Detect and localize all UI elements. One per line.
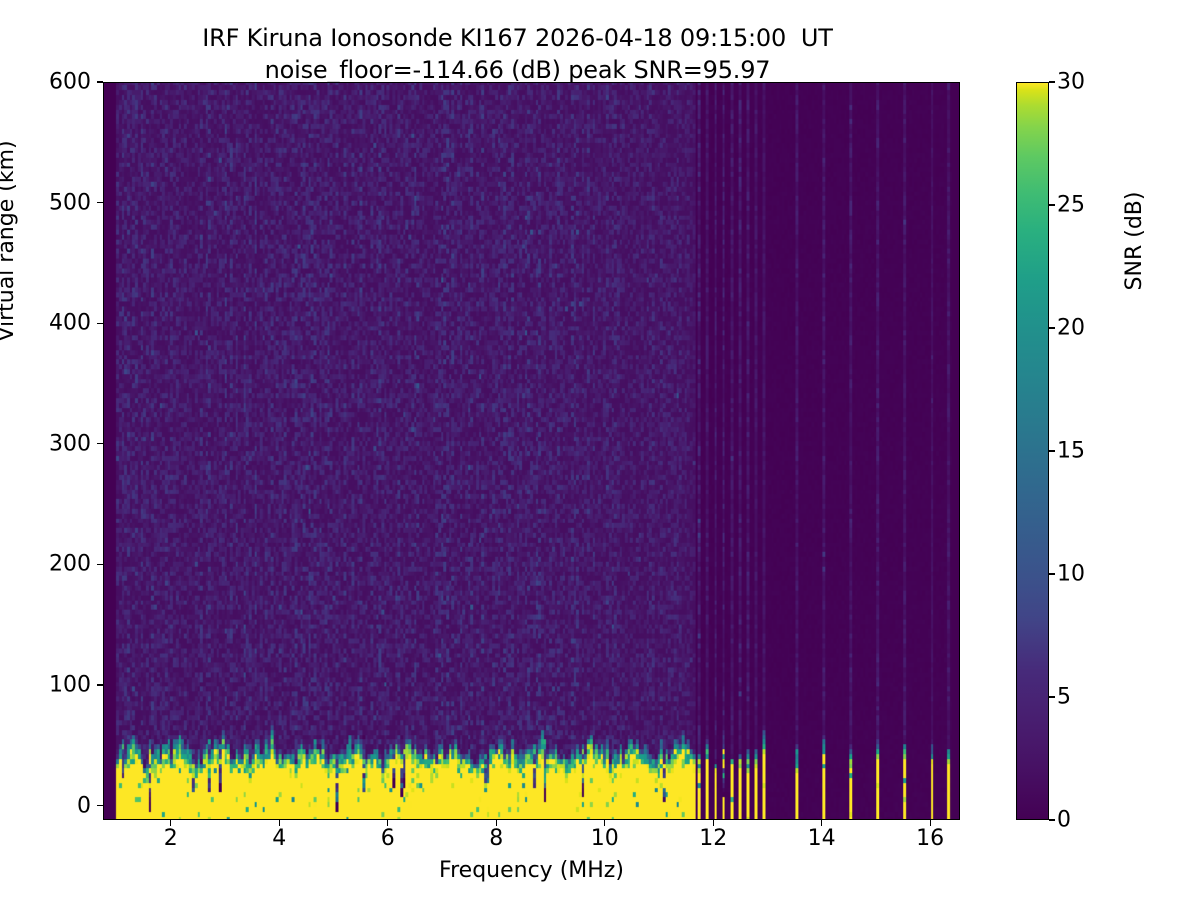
y-tick-label: 0 <box>77 793 91 818</box>
y-tick-mark <box>97 202 103 203</box>
colorbar-tick-label: 10 <box>1057 562 1085 587</box>
y-tick-mark <box>97 684 103 685</box>
x-tick-label: 6 <box>381 826 395 851</box>
plot-area <box>103 82 960 820</box>
colorbar-tick-mark <box>1049 819 1055 820</box>
colorbar <box>1016 82 1049 820</box>
colorbar-tick-mark <box>1049 573 1055 574</box>
colorbar-tick-mark <box>1049 450 1055 451</box>
x-tick-label: 16 <box>916 826 944 851</box>
title-line-1: IRF Kiruna Ionosonde KI167 2026-04-18 09… <box>0 22 1035 54</box>
x-tick-label: 4 <box>272 826 286 851</box>
x-tick-label: 12 <box>699 826 727 851</box>
colorbar-label: SNR (dB) <box>1122 31 1147 451</box>
colorbar-tick-mark <box>1049 204 1055 205</box>
y-tick-label: 400 <box>49 311 91 336</box>
y-tick-mark <box>97 81 103 82</box>
colorbar-tick-mark <box>1049 327 1055 328</box>
colorbar-tick-label: 5 <box>1057 685 1071 710</box>
y-tick-label: 600 <box>49 70 91 95</box>
y-tick-mark <box>97 564 103 565</box>
colorbar-tick-label: 15 <box>1057 439 1085 464</box>
y-tick-label: 300 <box>49 431 91 456</box>
y-tick-label: 500 <box>49 190 91 215</box>
y-axis-label: Virtual range (km) <box>0 31 19 451</box>
colorbar-tick-mark <box>1049 696 1055 697</box>
colorbar-tick-mark <box>1049 81 1055 82</box>
ionogram-heatmap <box>104 83 959 819</box>
y-tick-mark <box>97 323 103 324</box>
colorbar-tick-label: 20 <box>1057 316 1085 341</box>
x-tick-label: 8 <box>489 826 503 851</box>
x-tick-label: 10 <box>591 826 619 851</box>
y-tick-label: 100 <box>49 672 91 697</box>
colorbar-tick-label: 0 <box>1057 808 1071 833</box>
y-tick-label: 200 <box>49 552 91 577</box>
ionogram-figure: IRF Kiruna Ionosonde KI167 2026-04-18 09… <box>0 0 1200 900</box>
colorbar-tick-label: 25 <box>1057 193 1085 218</box>
x-axis-label: Frequency (MHz) <box>103 858 960 883</box>
colorbar-tick-label: 30 <box>1057 70 1085 95</box>
x-tick-label: 2 <box>164 826 178 851</box>
x-tick-label: 14 <box>808 826 836 851</box>
y-tick-mark <box>97 443 103 444</box>
chart-title: IRF Kiruna Ionosonde KI167 2026-04-18 09… <box>0 22 1035 86</box>
y-tick-mark <box>97 805 103 806</box>
